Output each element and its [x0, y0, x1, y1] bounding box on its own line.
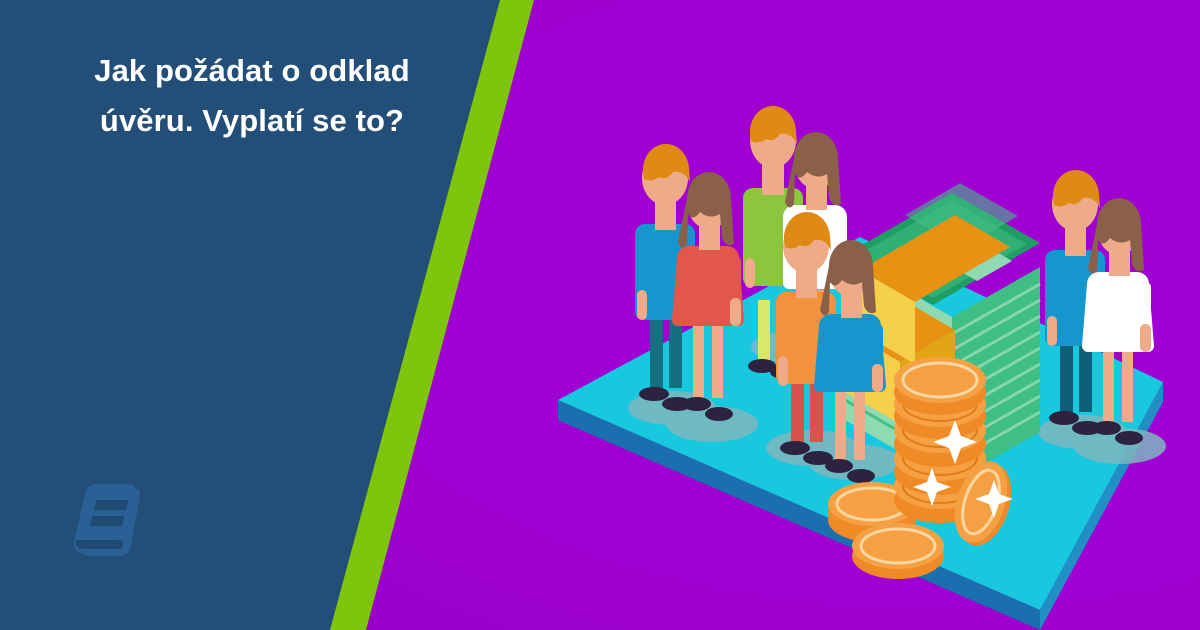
page-title-line-2: úvěru. Vyplatí se to?: [52, 96, 452, 146]
page-title-line-1: Jak požádat o odklad: [52, 46, 452, 96]
social-share-banner: Jak požádat o odklad úvěru. Vyplatí se t…: [0, 0, 1200, 630]
page-title: Jak požádat o odklad úvěru. Vyplatí se t…: [52, 46, 452, 146]
book-logo-icon: [58, 468, 158, 568]
